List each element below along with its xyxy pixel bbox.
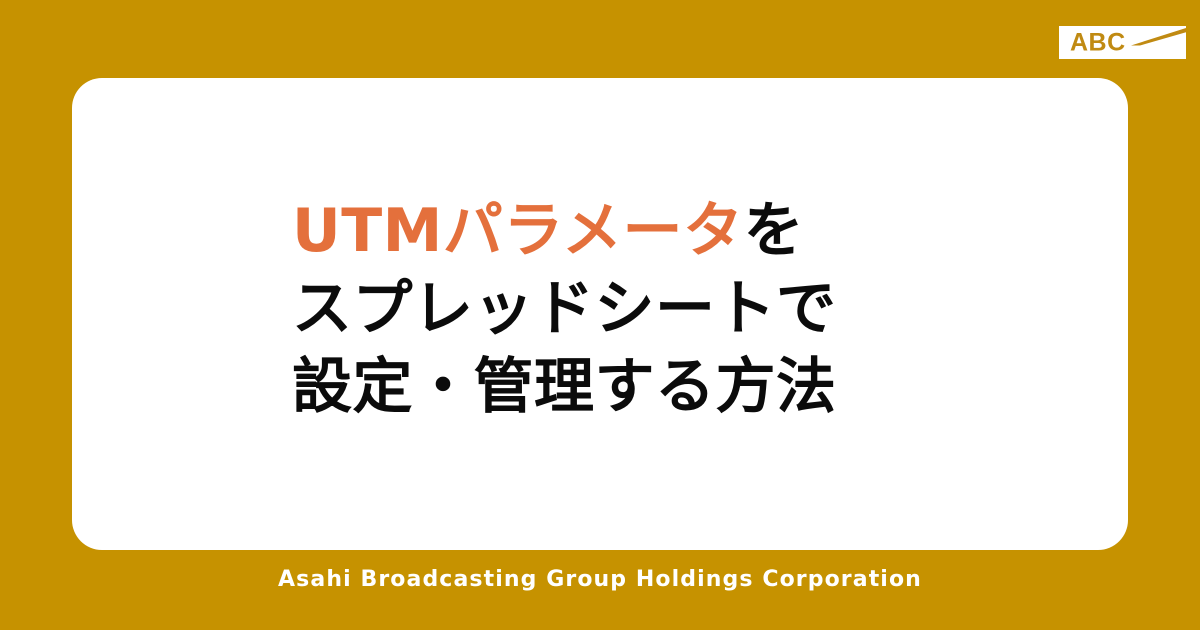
headline-line-2-plain: スプレッドシートで <box>292 274 837 344</box>
ogp-canvas: ABC UTMパラメータを スプレッドシートで 設定・管理する方法 Asahi … <box>0 0 1200 630</box>
headline-line-1-plain: を <box>744 196 805 266</box>
headline-line-2: スプレッドシートで <box>292 270 992 348</box>
headline-line-3: 設定・管理する方法 <box>292 348 992 426</box>
footer-company-name: Asahi Broadcasting Group Holdings Corpor… <box>0 565 1200 595</box>
abc-swoosh-icon <box>1131 28 1186 46</box>
page-title: UTMパラメータを スプレッドシートで 設定・管理する方法 <box>292 192 992 426</box>
abc-logo: ABC <box>1059 26 1186 59</box>
headline-line-3-plain: 設定・管理する方法 <box>292 352 837 422</box>
abc-logo-text: ABC <box>1070 30 1126 55</box>
headline-line-1: UTMパラメータを <box>292 192 992 270</box>
headline-line-1-accent: UTMパラメータ <box>292 196 744 266</box>
